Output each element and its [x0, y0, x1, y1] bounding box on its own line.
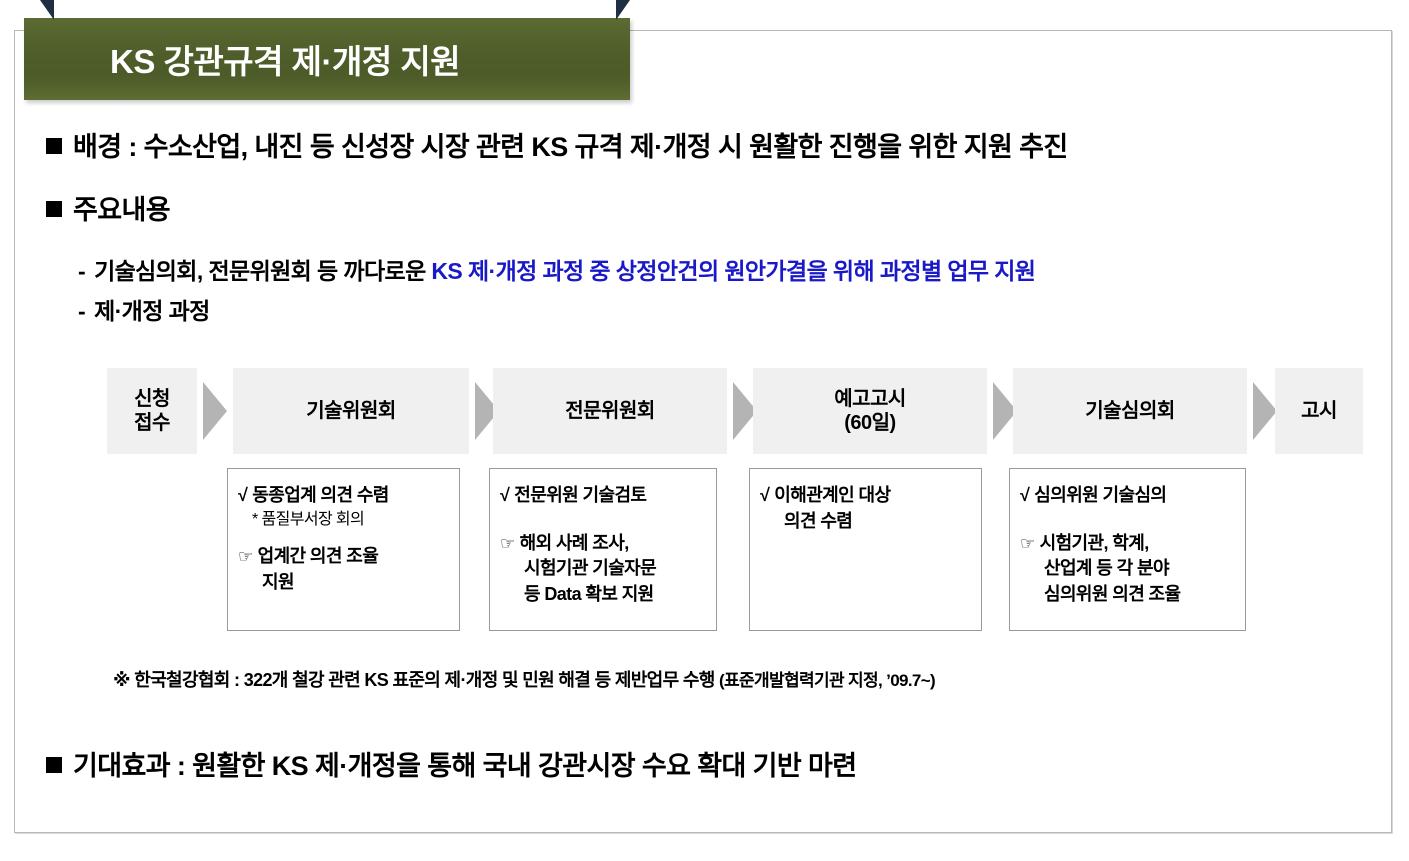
pointing-hand-icon: ☞: [1020, 532, 1035, 556]
detail-box-4-heading: 심의위원 기술심의: [1034, 485, 1166, 505]
flow-step-3-label: 전문위원회: [565, 399, 655, 423]
detail-box-2-action-line-3: 등 Data 확보 지원: [500, 582, 708, 608]
bullet-2-text: 제·개정 과정: [94, 298, 210, 324]
flow-step-5-label: 기술심의회: [1085, 399, 1175, 423]
detail-box-4-action-line-2: 산업계 등 각 분야: [1020, 556, 1237, 582]
flow-step-public-notice[interactable]: 예고고시 (60일): [753, 368, 987, 454]
bullet-1-blue-text: KS 제·개정 과정 중 상정안건의 원안가결을 위해 과정별 업무 지원: [431, 258, 1035, 284]
reference-mark-icon: ※: [113, 670, 130, 690]
detail-box-4-action-row: ☞시험기관, 학계,: [1020, 531, 1237, 557]
detail-box-1-action-line-2: 지원: [238, 570, 451, 596]
flow-step-application[interactable]: 신청 접수: [107, 368, 197, 454]
flow-step-deliberation-committee[interactable]: 기술심의회: [1013, 368, 1247, 454]
banner-notch-right-icon: [616, 0, 630, 20]
detail-box-expert-committee: √전문위원 기술검토 ☞해외 사례 조사, 시험기관 기술자문 등 Data 확…: [489, 468, 717, 631]
footnote-tail-text: (표준개발협력기관 지정, ’09.7~): [719, 671, 935, 690]
detail-box-1-note: * 품질부서장 회의: [238, 509, 451, 532]
detail-box-2-action-line-1: 해외 사례 조사,: [520, 533, 629, 553]
detail-box-4-action-line-1: 시험기관, 학계,: [1040, 533, 1149, 553]
page-title: KS 강관규격 제·개정 지원: [110, 35, 460, 83]
detail-box-3-heading-row: √이해관계인 대상: [760, 483, 973, 509]
bullet-1-black-text: 기술심의회, 전문위원회 등 까다로운: [94, 258, 431, 284]
detail-box-1-heading: 동종업계 의견 수렴: [252, 485, 388, 505]
detail-box-4-heading-row: √심의위원 기술심의: [1020, 483, 1237, 509]
detail-box-2-action-row: ☞해외 사례 조사,: [500, 531, 708, 557]
flow-step-1-line1: 신청: [134, 388, 170, 410]
bullet-dash-1: -: [78, 258, 85, 284]
detail-box-3-heading-line-2: 의견 수렴: [760, 509, 973, 535]
flow-step-1-line2: 접수: [134, 412, 170, 434]
flow-step-notification[interactable]: 고시: [1275, 368, 1363, 454]
detail-box-2-action-line-2: 시험기관 기술자문: [500, 556, 708, 582]
process-flow: 신청 접수 기술위원회 전문위원회 예고고시 (60일) 기술심의회 고시: [107, 368, 1363, 454]
square-bullet-icon: [46, 138, 62, 154]
flow-step-2-label: 기술위원회: [306, 399, 396, 423]
banner-notch-left-icon: [40, 0, 54, 20]
main-content-heading-label: 주요내용: [73, 195, 170, 225]
bullet-process-stages: -제·개정 과정: [78, 297, 210, 326]
pointing-hand-icon: ☞: [238, 545, 253, 569]
bullet-process-support: -기술심의회, 전문위원회 등 까다로운 KS 제·개정 과정 중 상정안건의 …: [78, 257, 1035, 286]
detail-box-technical-committee: √동종업계 의견 수렴 * 품질부서장 회의 ☞업계간 의견 조율 지원: [227, 468, 460, 631]
detail-box-1-action-row: ☞업계간 의견 조율: [238, 544, 451, 570]
detail-box-3-heading: 이해관계인 대상: [774, 485, 890, 505]
chevron-right-icon: [1253, 382, 1277, 440]
main-content-heading: 주요내용: [46, 196, 170, 226]
flow-step-4-line2: (60일): [844, 412, 895, 434]
square-bullet-icon: [46, 201, 62, 217]
title-banner: KS 강관규격 제·개정 지원: [24, 18, 630, 100]
square-bullet-icon: [46, 757, 62, 773]
chevron-right-icon: [203, 382, 227, 440]
flow-step-expert-committee[interactable]: 전문위원회: [493, 368, 727, 454]
detail-box-1-heading-row: √동종업계 의견 수렴: [238, 483, 451, 509]
flow-step-4-line1: 예고고시: [834, 388, 906, 410]
detail-box-4-action-line-3: 심의위원 의견 조율: [1020, 582, 1237, 608]
check-mark-icon: √: [1020, 483, 1029, 509]
detail-box-2-heading-row: √전문위원 기술검토: [500, 483, 708, 509]
detail-box-public-notice: √이해관계인 대상 의견 수렴: [749, 468, 982, 631]
check-mark-icon: √: [238, 483, 247, 509]
bullet-dash-2: -: [78, 298, 85, 324]
footnote-main-text: 한국철강협회 : 322개 철강 관련 KS 표준의 제·개정 및 민원 해결 …: [134, 670, 714, 690]
background-text: 배경 : 수소산업, 내진 등 신성장 시장 관련 KS 규격 제·개정 시 원…: [73, 132, 1068, 162]
check-mark-icon: √: [500, 483, 509, 509]
detail-box-deliberation-committee: √심의위원 기술심의 ☞시험기관, 학계, 산업계 등 각 분야 심의위원 의견…: [1009, 468, 1246, 631]
check-mark-icon: √: [760, 483, 769, 509]
background-line: 배경 : 수소산업, 내진 등 신성장 시장 관련 KS 규격 제·개정 시 원…: [46, 133, 1068, 163]
expected-effect-line: 기대효과 : 원활한 KS 제·개정을 통해 국내 강관시장 수요 확대 기반 …: [46, 752, 857, 782]
expected-effect-text: 기대효과 : 원활한 KS 제·개정을 통해 국내 강관시장 수요 확대 기반 …: [73, 751, 857, 781]
pointing-hand-icon: ☞: [500, 532, 515, 556]
flow-step-technical-committee[interactable]: 기술위원회: [233, 368, 469, 454]
detail-box-2-heading: 전문위원 기술검토: [514, 485, 646, 505]
detail-box-1-action-line-1: 업계간 의견 조율: [258, 546, 379, 566]
footnote: ※ 한국철강협회 : 322개 철강 관련 KS 표준의 제·개정 및 민원 해…: [113, 666, 935, 692]
flow-step-6-label: 고시: [1301, 399, 1337, 423]
